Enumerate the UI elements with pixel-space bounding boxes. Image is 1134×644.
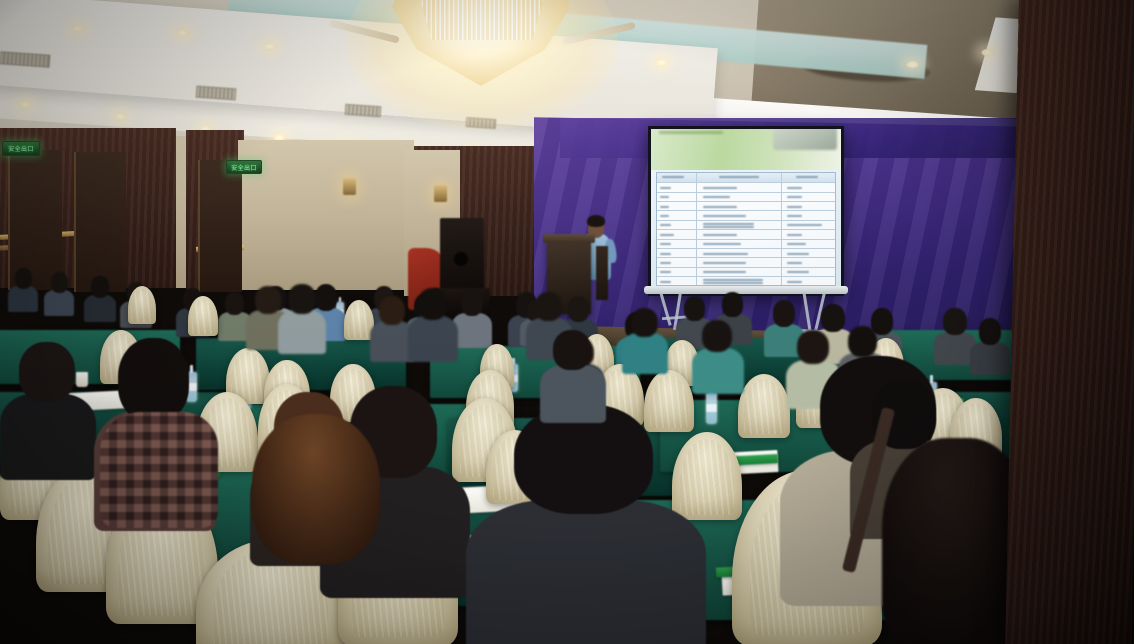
ceiling-downlight <box>980 48 995 57</box>
slide-table-cell <box>782 183 835 191</box>
attendee-head <box>848 326 877 357</box>
slide-table-cell <box>657 240 697 248</box>
structural-pillar-right <box>1005 0 1134 644</box>
slide-text-line <box>660 196 669 198</box>
slide-text-line <box>660 262 671 264</box>
slide-text-line <box>796 176 818 178</box>
attendee-head <box>553 330 591 370</box>
ceiling-downlight <box>654 58 669 67</box>
slide-table-cell <box>697 277 783 285</box>
slide-title <box>659 131 724 134</box>
audience-member <box>452 288 492 344</box>
ceiling-downlight <box>905 60 920 69</box>
slide-table-cell <box>657 268 697 276</box>
audience-member <box>408 288 458 358</box>
slide-text-line <box>787 253 810 255</box>
attendee-body <box>44 290 74 316</box>
ceiling-downlight <box>262 42 277 51</box>
ceiling-downlight <box>70 24 85 33</box>
slide-table-cell <box>697 211 783 219</box>
attendee-head <box>684 296 705 321</box>
slide-table-cell <box>697 202 783 210</box>
slide-table-cell <box>697 258 783 266</box>
slide-table-header-cell <box>782 173 835 183</box>
attendee-head <box>702 320 732 352</box>
slide-table-row <box>657 221 836 230</box>
attendee-head <box>418 288 447 320</box>
attendee-head <box>51 272 68 293</box>
attendee-body <box>84 295 116 322</box>
slide-table-cell <box>782 258 835 266</box>
slide-table-row <box>657 193 836 202</box>
attendee-wavy-hair <box>252 414 380 564</box>
audience-member <box>8 268 38 310</box>
slide-text-line <box>703 226 754 228</box>
slide-text-line <box>719 176 760 178</box>
attendee-head <box>461 288 483 316</box>
audience-member <box>692 320 744 390</box>
slide-table-cell <box>697 221 783 229</box>
chandelier <box>382 0 582 101</box>
slide-text-line <box>660 206 669 208</box>
slide-text-line <box>660 234 674 236</box>
presenter-hair <box>587 215 605 227</box>
slide-table-header-cell <box>697 173 783 183</box>
bottle-label <box>706 404 717 412</box>
exit-sign: 安全出口 <box>226 160 262 174</box>
attendee-head <box>535 292 562 321</box>
wall-door[interactable] <box>198 160 242 292</box>
attendee-head <box>91 276 109 298</box>
slide-text-line <box>787 234 803 236</box>
attendee-body <box>622 333 668 374</box>
attendee-body <box>540 365 606 423</box>
wall-door[interactable] <box>74 152 126 292</box>
slide-table-cell <box>782 193 835 201</box>
podium-top <box>543 234 595 243</box>
slide-text-line <box>703 279 763 281</box>
slide-text-line <box>660 215 669 217</box>
slide-table-row <box>657 258 836 267</box>
slide-table-cell <box>697 268 783 276</box>
slide-table-cell <box>782 230 835 238</box>
slide-text-line <box>787 281 803 283</box>
slide-text-line <box>787 206 803 208</box>
slide-table-cell <box>657 183 697 191</box>
attendee-head <box>943 308 967 335</box>
attendee-head <box>15 268 32 289</box>
exit-sign: 安全出口 <box>2 141 40 156</box>
slide-table-cell <box>782 277 835 285</box>
slide-table <box>656 172 837 287</box>
attendee-head <box>722 292 743 317</box>
pa-speaker-stack <box>440 218 484 296</box>
slide-table-cell <box>697 230 783 238</box>
slide-table-cell <box>697 240 783 248</box>
attendee-body <box>452 313 492 348</box>
slide-table-row <box>657 202 836 211</box>
slide-text-line <box>787 215 803 217</box>
slide-text-line <box>703 215 745 217</box>
slide-table-cell <box>657 249 697 257</box>
wall-sconce <box>343 178 356 195</box>
attendee-body <box>0 394 96 480</box>
slide-text-line <box>660 187 671 189</box>
slide-table-cell <box>782 202 835 210</box>
attendee-body <box>278 310 326 354</box>
audience-member <box>278 284 326 350</box>
audience-member <box>84 276 116 320</box>
slide-table-row <box>657 268 836 277</box>
slide-text-line <box>787 196 803 198</box>
slide-table-cell <box>782 268 835 276</box>
slide-text-line <box>660 271 671 273</box>
exit-sign-label: 安全出口 <box>8 144 34 153</box>
attendee-body <box>692 348 744 394</box>
plaid-shirt-attendee <box>100 412 218 528</box>
slide-text-line <box>660 224 671 226</box>
attendee-head <box>19 342 75 402</box>
slide-text-line <box>660 253 671 255</box>
slide-text-line <box>660 243 671 245</box>
audience-member <box>44 272 74 314</box>
slide-text-line <box>660 281 671 283</box>
chair-cover <box>188 296 218 336</box>
slide-table-cell <box>697 183 783 191</box>
podium-side <box>596 246 608 300</box>
slide-text-line <box>787 187 803 189</box>
attendee-head <box>773 300 795 327</box>
audience-member <box>466 404 706 644</box>
slide-text-line <box>703 187 736 189</box>
slide-table-cell <box>657 202 697 210</box>
slide-text-line <box>703 206 736 208</box>
attendee-body <box>408 316 458 362</box>
projection-screen-frame <box>648 126 844 296</box>
slide-table-row <box>657 240 836 249</box>
slide-table-cell <box>782 249 835 257</box>
attendee-body <box>8 286 38 312</box>
slide-text-line <box>703 271 745 273</box>
slide-table-header-cell <box>657 173 697 183</box>
slide-table-header-row <box>657 173 836 184</box>
projection-screen-surface[interactable] <box>651 129 841 293</box>
audience-member <box>0 342 96 472</box>
audience-member <box>540 330 606 418</box>
attendee-head <box>118 338 189 422</box>
conference-hall-photo: 安全出口安全出口 <box>0 0 1134 644</box>
slide-header-photo <box>773 129 838 150</box>
slide-table-cell <box>657 277 697 285</box>
slide-text-line <box>703 282 763 284</box>
slide-table-cell <box>657 230 697 238</box>
water-bottle <box>706 392 717 424</box>
slide-table-row <box>657 277 836 285</box>
slide-text-line <box>787 271 810 273</box>
slide-table-row <box>657 230 836 239</box>
slide-text-line <box>787 224 822 226</box>
slide-text-line <box>703 243 741 245</box>
attendee-head <box>225 292 244 315</box>
audience-member <box>622 308 668 370</box>
slide-table-cell <box>657 221 697 229</box>
slide-table-row <box>657 211 836 220</box>
slide-table-cell <box>657 258 697 266</box>
slide-table-cell <box>782 211 835 219</box>
slide-table-cell <box>782 240 835 248</box>
slide-table-row <box>657 249 836 258</box>
attendee-head <box>379 296 405 325</box>
slide-header-band <box>651 129 841 170</box>
attendee-head <box>979 318 1001 345</box>
slide-table-row <box>657 183 836 192</box>
slide-text-line <box>703 234 736 236</box>
slide-table-cell <box>657 193 697 201</box>
slide-table-cell <box>782 221 835 229</box>
attendee-body <box>466 500 706 644</box>
ceiling-downlight <box>113 112 128 121</box>
exit-sign-label: 安全出口 <box>231 163 257 172</box>
attendee-head <box>288 284 316 314</box>
slide-text-line <box>703 262 745 264</box>
attendee-head <box>631 308 658 337</box>
slide-table-cell <box>657 211 697 219</box>
wall-panel-beige <box>238 140 414 290</box>
slide-table-cell <box>697 193 783 201</box>
ceiling-downlight <box>175 28 190 37</box>
projection-screen-assembly <box>648 126 844 296</box>
slide-text-line <box>662 176 683 178</box>
slide-text-line <box>703 196 730 198</box>
chandelier-crystal-strands <box>408 0 556 40</box>
slide-text-line <box>703 223 754 225</box>
wall-sconce <box>434 185 447 202</box>
ceiling-downlight <box>18 100 33 109</box>
slide-text-line <box>787 262 803 264</box>
slide-text-line <box>703 253 747 255</box>
slide-table-cell <box>697 249 783 257</box>
slide-text-line <box>787 243 806 245</box>
